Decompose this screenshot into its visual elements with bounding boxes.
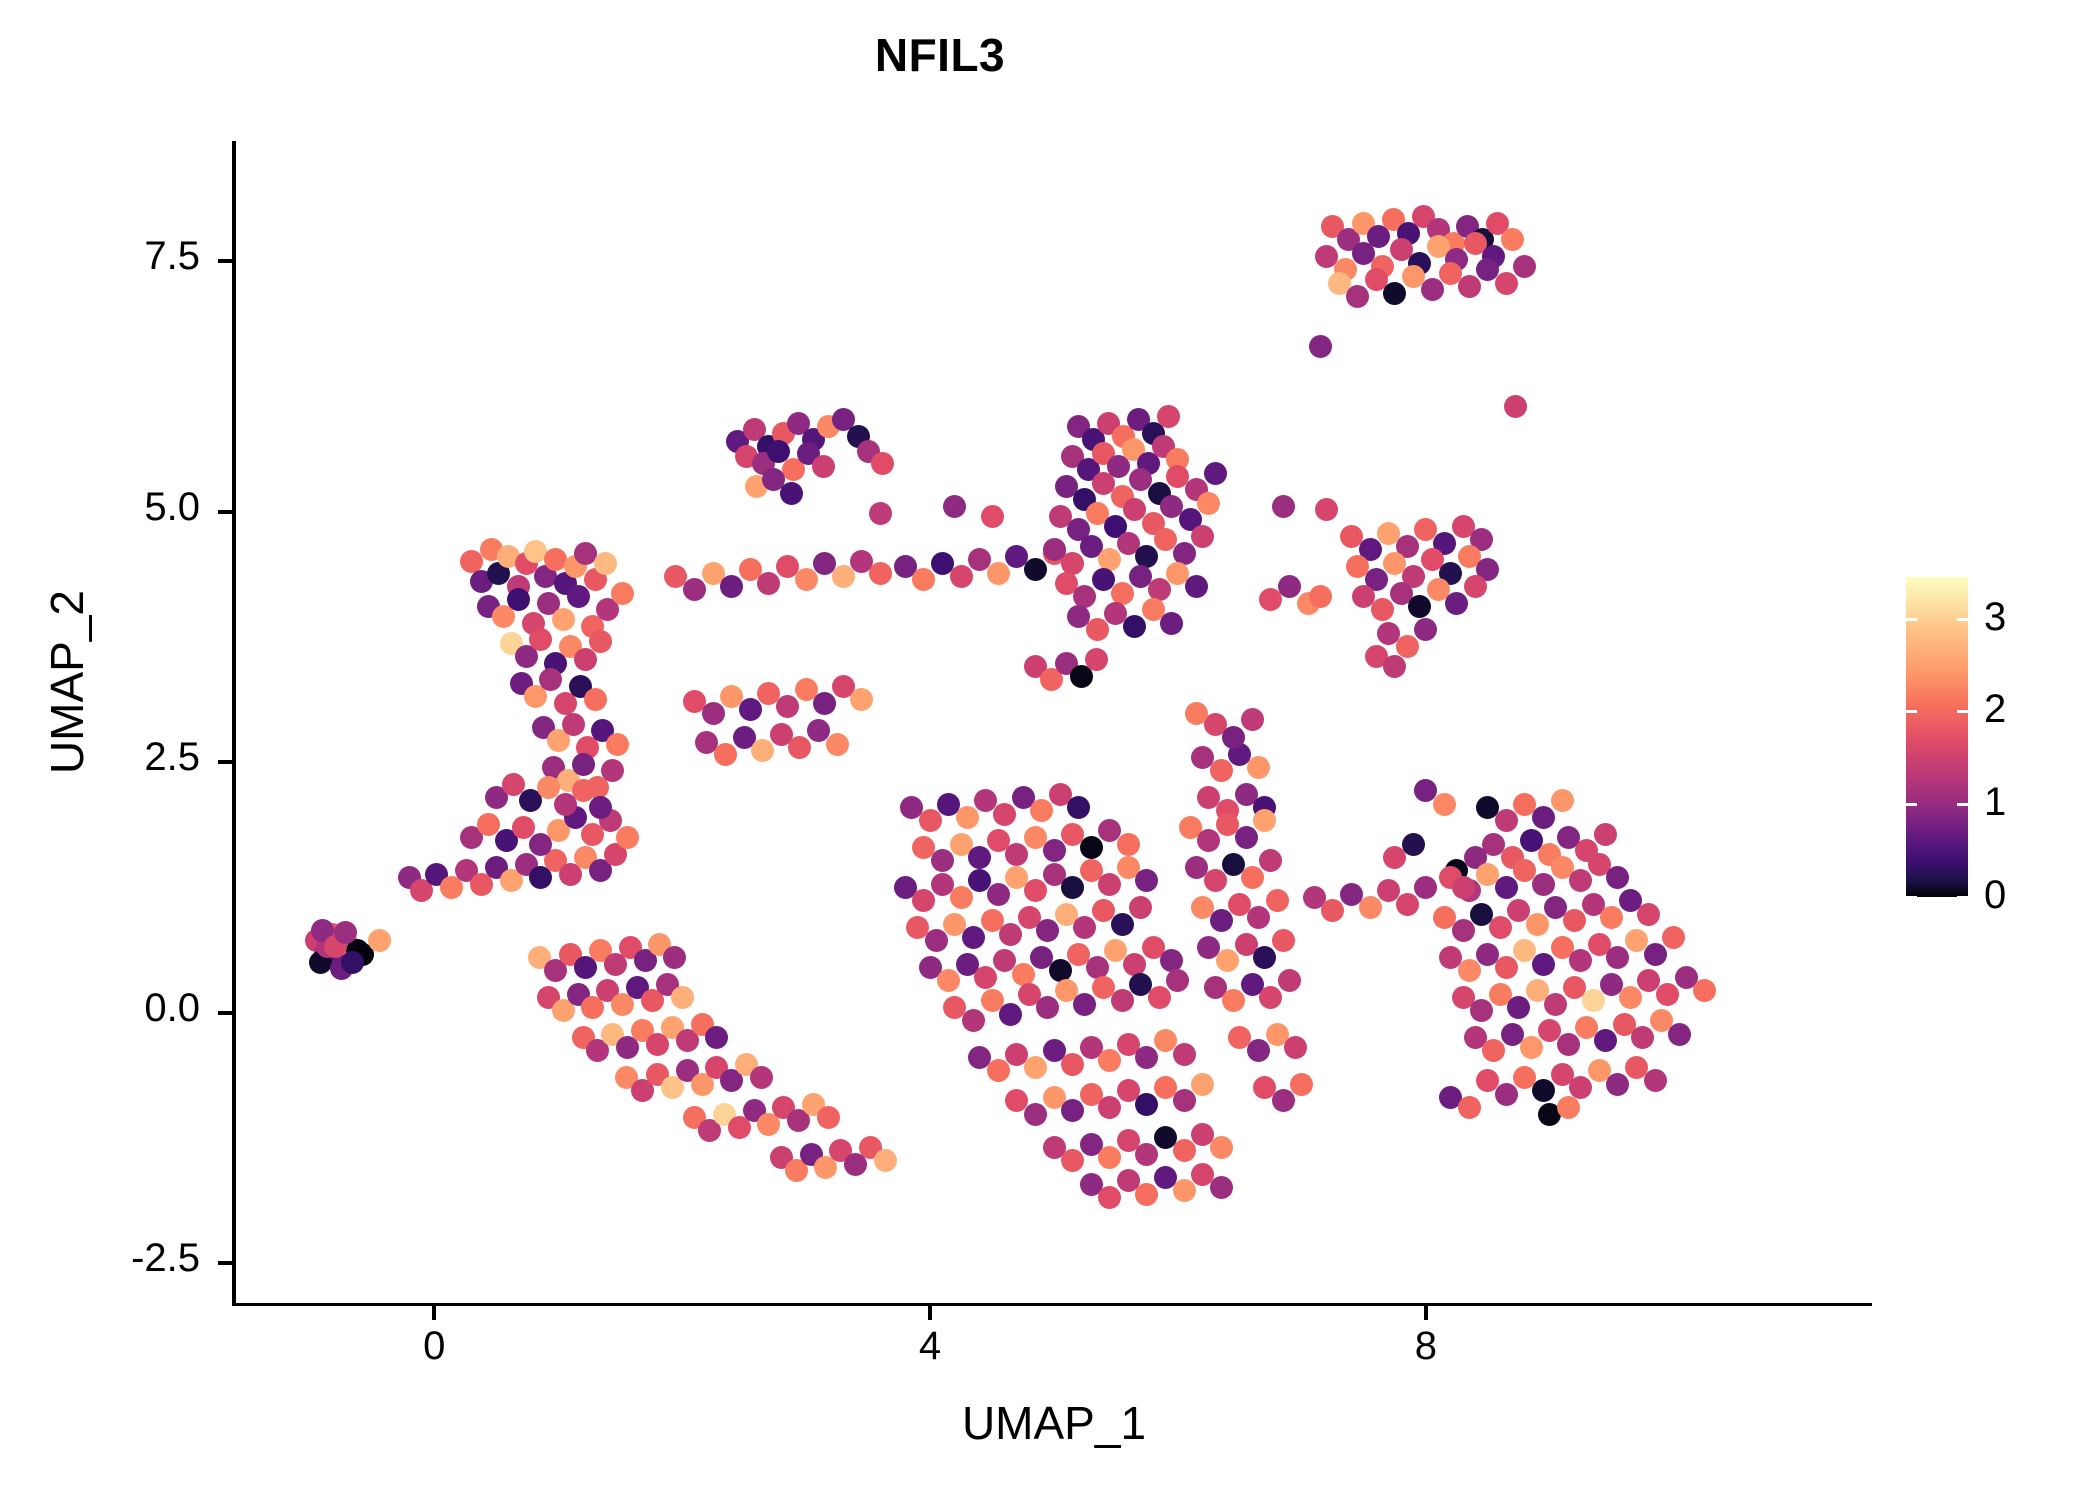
scatter-point [1600, 906, 1623, 929]
scatter-point [919, 809, 942, 832]
scatter-point [1061, 1053, 1084, 1076]
scatter-point [1458, 275, 1481, 298]
scatter-point [1569, 949, 1592, 972]
scatter-point [1383, 846, 1406, 869]
scatter-point [611, 582, 634, 605]
scatter-point [1495, 956, 1518, 979]
scatter-point [1396, 635, 1419, 658]
colorbar-tick-mark [1957, 803, 1968, 806]
scatter-point [1396, 893, 1419, 916]
scatter-point [1408, 595, 1431, 618]
scatter-point [1563, 909, 1586, 932]
scatter-point [1606, 946, 1629, 969]
scatter-point [950, 565, 973, 588]
colorbar-tick-mark [1906, 618, 1917, 621]
scatter-point [1185, 575, 1208, 598]
scatter-point [1383, 655, 1406, 678]
scatter-point [1111, 989, 1134, 1012]
scatter-point [1569, 869, 1592, 892]
scatter-point [1197, 829, 1220, 852]
scatter-point [1278, 969, 1301, 992]
scatter-point [1098, 1186, 1121, 1209]
scatter-point [341, 951, 364, 974]
scatter-point [1513, 255, 1536, 278]
scatter-point [589, 630, 612, 653]
scatter-point [1111, 913, 1134, 936]
scatter-point [912, 889, 935, 912]
scatter-point [999, 923, 1022, 946]
scatter-point [776, 695, 799, 718]
scatter-point [812, 455, 835, 478]
y-tick-label: -2.5 [40, 1236, 200, 1281]
colorbar-tick-mark [1957, 710, 1968, 713]
scatter-point [1135, 1093, 1158, 1116]
scatter-point [584, 688, 607, 711]
scatter-point [1464, 575, 1487, 598]
scatter-point [1644, 1069, 1667, 1092]
scatter-point [1135, 1183, 1158, 1206]
scatter-point [1482, 1039, 1505, 1062]
scatter-point [1278, 575, 1301, 598]
scatter-point [1495, 1083, 1518, 1106]
scatter-point [739, 698, 762, 721]
scatter-point [968, 846, 991, 869]
scatter-point [1668, 1023, 1691, 1046]
scatter-point [987, 1059, 1010, 1082]
scatter-point [962, 1009, 985, 1032]
y-tick-mark [218, 510, 232, 514]
x-tick-label: 0 [374, 1324, 494, 1369]
scatter-point [1235, 826, 1258, 849]
scatter-point [1532, 953, 1555, 976]
scatter-point [1247, 1039, 1270, 1062]
scatter-point [1495, 876, 1518, 899]
colorbar-tick-mark [1957, 618, 1968, 621]
scatter-point [1402, 833, 1425, 856]
scatter-point [1433, 793, 1456, 816]
scatter-point [572, 779, 595, 802]
scatter-point [1414, 618, 1437, 641]
scatter-point [567, 585, 590, 608]
scatter-point [705, 1026, 728, 1049]
scatter-point [589, 796, 612, 819]
scatter-point [1241, 708, 1264, 731]
x-tick-label: 8 [1366, 1324, 1486, 1369]
scatter-point [1024, 879, 1047, 902]
scatter-point [1024, 1103, 1047, 1126]
scatter-point [1266, 889, 1289, 912]
scatter-point [1204, 462, 1227, 485]
scatter-point [869, 562, 892, 585]
scatter-point [1210, 1176, 1233, 1199]
scatter-point [1501, 228, 1524, 251]
scatter-point [1157, 405, 1180, 428]
scatter-point [925, 929, 948, 952]
scatter-point [1216, 949, 1239, 972]
scatter-point [683, 578, 706, 601]
scatter-point [1129, 896, 1152, 919]
scatter-point [1210, 909, 1233, 932]
scatter-point [1569, 1076, 1592, 1099]
scatter-point [832, 565, 855, 588]
scatter-point [663, 946, 686, 969]
scatter-point [931, 849, 954, 872]
scatter-point [987, 562, 1010, 585]
scatter-point [1414, 876, 1437, 899]
scatter-point [1504, 395, 1527, 418]
scatter-point [826, 733, 849, 756]
scatter-point [1204, 869, 1227, 892]
scatter-point [817, 1106, 840, 1129]
scatter-point [1061, 876, 1084, 899]
y-tick-mark [218, 259, 232, 263]
scatter-point [1644, 943, 1667, 966]
scatter-point [1594, 1029, 1617, 1052]
scatter-point [1495, 809, 1518, 832]
scatter-point [757, 572, 780, 595]
scatter-point [1359, 896, 1382, 919]
scatter-point [529, 628, 552, 651]
scatter-point [1272, 495, 1295, 518]
scatter-point [1148, 986, 1171, 1009]
scatter-point [1551, 789, 1574, 812]
scatter-point [1098, 1146, 1121, 1169]
scatter-point [1197, 492, 1220, 515]
scatter-point [1452, 919, 1475, 942]
scatter-point [956, 806, 979, 829]
y-tick-mark [218, 1261, 232, 1265]
scatter-point [1315, 498, 1338, 521]
scatter-point [594, 552, 617, 575]
scatter-point [999, 1003, 1022, 1026]
scatter-point [1135, 1143, 1158, 1166]
scatter-point [1191, 525, 1214, 548]
scatter-point [562, 713, 585, 736]
scatter-point [1036, 919, 1059, 942]
scatter-point [1073, 993, 1096, 1016]
scatter-point [1098, 1096, 1121, 1119]
scatter-point [1470, 999, 1493, 1022]
colorbar-tick-mark [1957, 896, 1968, 899]
colorbar-tick-label: 2 [1984, 689, 2006, 729]
scatter-point [962, 926, 985, 949]
scatter-point [1309, 335, 1332, 358]
scatter-point [874, 1149, 897, 1172]
scatter-point [981, 505, 1004, 528]
colorbar-tick-mark [1906, 896, 1917, 899]
scatter-point [1067, 796, 1090, 819]
scatter-point [1222, 989, 1245, 1012]
scatter-point [1309, 585, 1332, 608]
scatter-point [572, 753, 595, 776]
scatter-point [1489, 916, 1512, 939]
x-tick-label: 4 [870, 1324, 990, 1369]
scatter-point [1631, 1026, 1654, 1049]
y-axis-label: UMAP_2 [40, 332, 94, 1032]
scatter-point [368, 929, 391, 952]
scatter-point [1135, 1046, 1158, 1069]
colorbar-tick-mark [1906, 803, 1917, 806]
scatter-point [1321, 899, 1344, 922]
scatter-point [1606, 1073, 1629, 1096]
scatter-point [537, 776, 560, 799]
scatter-point [1160, 612, 1183, 635]
scatter-point [1656, 983, 1679, 1006]
scatter-point [671, 986, 694, 1009]
scatter-point [1043, 839, 1066, 862]
scatter-point [1123, 615, 1146, 638]
scatter-point [1452, 876, 1475, 899]
colorbar-tick-label: 3 [1984, 597, 2006, 637]
scatter-plot-panel [236, 141, 1872, 1303]
scatter-point [780, 482, 803, 505]
scatter-point [507, 588, 530, 611]
scatter-point [1098, 1049, 1121, 1072]
scatter-point [871, 452, 894, 475]
scatter-point [1272, 1089, 1295, 1112]
scatter-point [788, 736, 811, 759]
scatter-point [574, 648, 597, 671]
scatter-point [987, 883, 1010, 906]
scatter-point [1520, 1036, 1543, 1059]
scatter-point [1061, 1099, 1084, 1122]
scatter-point [1024, 558, 1047, 581]
scatter-point [1166, 969, 1189, 992]
colorbar-tick-label: 1 [1984, 782, 2006, 822]
scatter-point [702, 702, 725, 725]
scatter-point [1532, 806, 1555, 829]
scatter-point [1173, 1139, 1196, 1162]
scatter-point [539, 668, 562, 691]
scatter-point [813, 692, 836, 715]
x-axis-label: UMAP_1 [236, 1396, 1872, 1450]
scatter-point [720, 575, 743, 598]
scatter-point [1383, 282, 1406, 305]
scatter-point [1259, 849, 1282, 872]
scatter-point [1582, 989, 1605, 1012]
scatter-point [1036, 996, 1059, 1019]
colorbar-legend: 3210 [1906, 577, 2076, 907]
scatter-point [1532, 873, 1555, 896]
scatter-point [1085, 648, 1108, 671]
scatter-point [1117, 833, 1140, 856]
scatter-point [1080, 836, 1103, 859]
scatter-point [1086, 618, 1109, 641]
scatter-point [1253, 946, 1276, 969]
scatter-point [1544, 993, 1567, 1016]
scatter-point [1637, 903, 1660, 926]
scatter-point [1247, 906, 1270, 929]
scatter-point [1557, 1033, 1580, 1056]
scatter-point [714, 743, 737, 766]
scatter-point [943, 495, 966, 518]
x-tick-mark [928, 1306, 932, 1320]
scatter-point [1526, 913, 1549, 936]
scatter-point [1030, 799, 1053, 822]
scatter-point [552, 608, 575, 631]
scatter-point [334, 921, 357, 944]
scatter-point [937, 969, 960, 992]
scatter-point [1098, 873, 1121, 896]
scatter-point [1173, 1043, 1196, 1066]
scatter-point [1371, 598, 1394, 621]
page-title: NFIL3 [0, 28, 1880, 82]
scatter-point [1507, 996, 1530, 1019]
scatter-point [1061, 1149, 1084, 1172]
scatter-point [1005, 843, 1028, 866]
scatter-point [1594, 823, 1617, 846]
scatter-point [912, 568, 935, 591]
scatter-point [1173, 1179, 1196, 1202]
scatter-point [1606, 866, 1629, 889]
scatter-point [1210, 1136, 1233, 1159]
y-tick-mark [218, 1011, 232, 1015]
scatter-point [1346, 285, 1369, 308]
scatter-point [974, 966, 997, 989]
scatter-point [1421, 278, 1444, 301]
scatter-point [850, 688, 873, 711]
scatter-point [1619, 986, 1642, 1009]
scatter-point [1073, 916, 1096, 939]
scatter-point [869, 502, 892, 525]
scatter-point [1241, 866, 1264, 889]
scatter-point [1495, 272, 1518, 295]
scatter-point [1173, 1089, 1196, 1112]
scatter-point [1662, 926, 1685, 949]
feature-plot-figure: NFIL3 7.55.02.50.0-2.5 048 UMAP_2 UMAP_1… [0, 0, 2100, 1500]
colorbar-tick-label: 0 [1984, 875, 2006, 915]
y-tick-label: 7.5 [40, 234, 200, 279]
x-tick-mark [1424, 1306, 1428, 1320]
y-tick-mark [218, 760, 232, 764]
colorbar-gradient [1906, 577, 1968, 897]
scatter-point [1693, 979, 1716, 1002]
scatter-point [1135, 869, 1158, 892]
scatter-point [1284, 1036, 1307, 1059]
scatter-point [1253, 809, 1276, 832]
scatter-point [1532, 1079, 1555, 1102]
scatter-point [1024, 1056, 1047, 1079]
scatter-point [1557, 1096, 1580, 1119]
scatter-point [601, 759, 624, 782]
scatter-point [751, 739, 774, 762]
scatter-point [1210, 759, 1233, 782]
scatter-point [1272, 929, 1295, 952]
scatter-point [993, 803, 1016, 826]
scatter-point [1247, 756, 1270, 779]
x-tick-mark [432, 1306, 436, 1320]
scatter-point [616, 826, 639, 849]
colorbar-tick-mark [1906, 710, 1917, 713]
scatter-point [795, 568, 818, 591]
scatter-point [1290, 1073, 1313, 1096]
scatter-point [1458, 959, 1481, 982]
scatter-point [1445, 592, 1468, 615]
scatter-point [1458, 1096, 1481, 1119]
scatter-point [1259, 986, 1282, 1009]
scatter-point [606, 733, 629, 756]
scatter-point [750, 1066, 773, 1089]
scatter-point [950, 886, 973, 909]
scatter-point [1222, 726, 1245, 749]
scatter-point [1191, 1073, 1214, 1096]
